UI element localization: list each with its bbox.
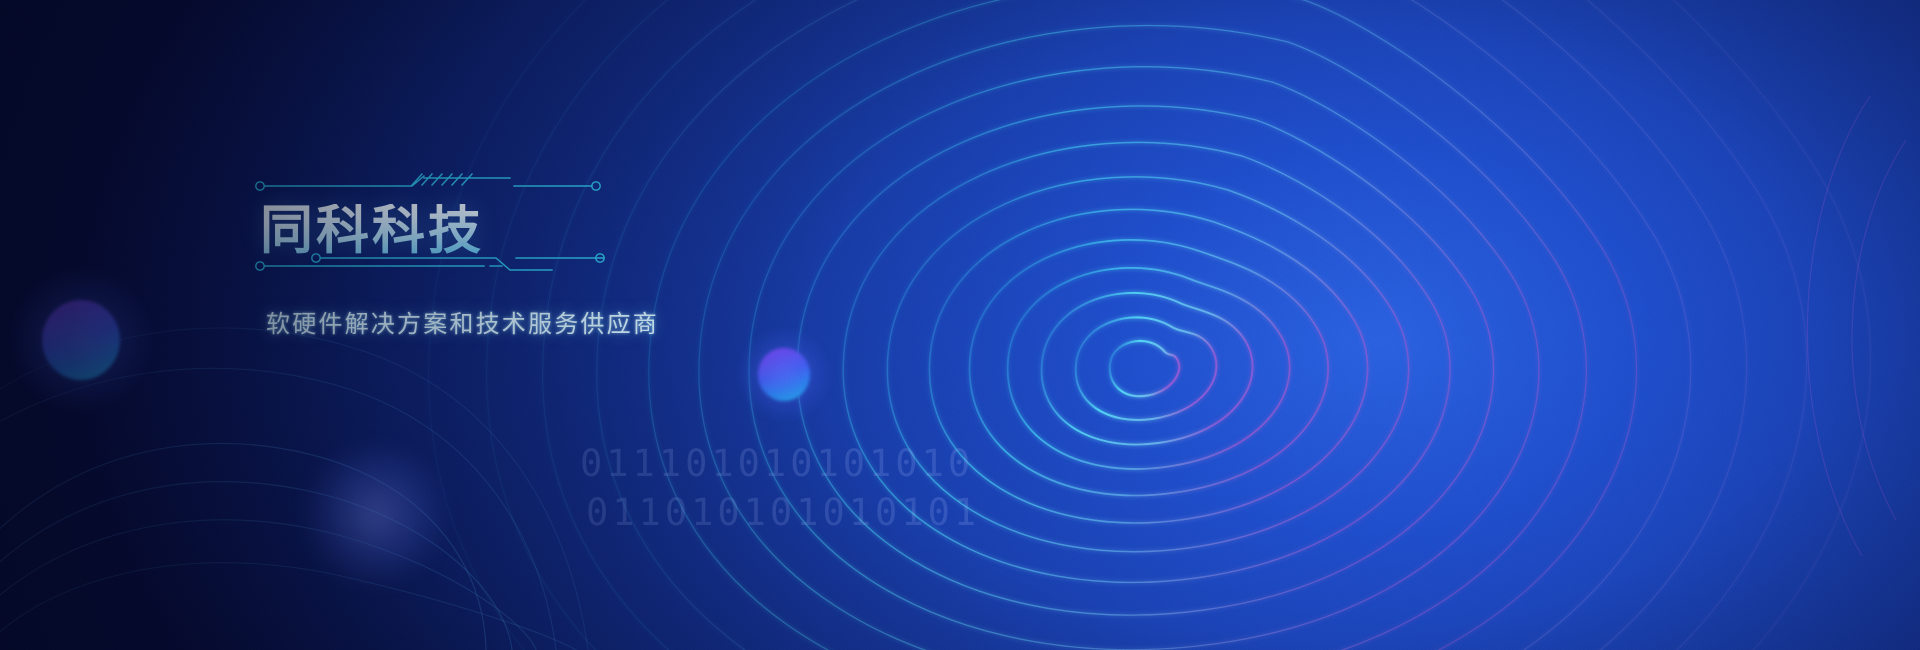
frame-node-top-left [256, 182, 264, 190]
page-subtitle: 软硬件解决方案和技术服务供应商 [266, 304, 659, 339]
glowing-orb-large [42, 300, 120, 380]
binary-code-decoration: 011101010101010 011010101010101 [580, 440, 980, 538]
frame-node-bottom-left [256, 262, 264, 270]
binary-code-line-2: 011010101010101 [586, 489, 980, 538]
hero-banner: 011101010101010 011010101010101 [0, 0, 1920, 650]
glowing-orb-small [758, 348, 810, 401]
orb-glow-decoration [300, 440, 450, 590]
binary-code-line-1: 011101010101010 [580, 440, 980, 489]
brand-title-block: 同科科技 软硬件解决方案和技术服务供应商 [252, 178, 672, 358]
frame-node-top-right [592, 182, 600, 190]
page-title: 同科科技 [260, 204, 484, 257]
